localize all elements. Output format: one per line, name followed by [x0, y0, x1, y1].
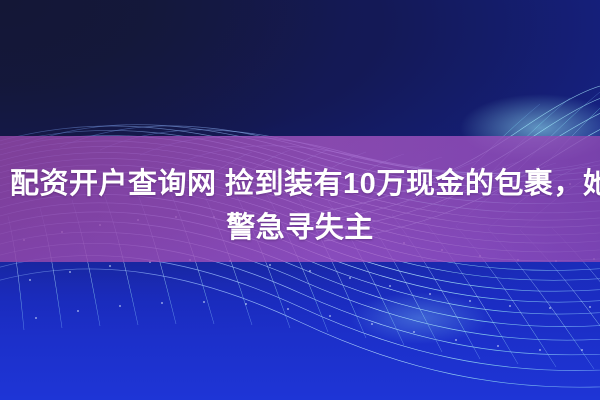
headline-text: 配资开户查询网 捡到装有10万现金的包裹，她报 警急寻失主 — [0, 162, 600, 250]
headline-line-1: 配资开户查询网 捡到装有10万现金的包裹，她报 — [10, 168, 600, 200]
banner-image: 配资开户查询网 捡到装有10万现金的包裹，她报 警急寻失主 — [0, 0, 600, 400]
headline-line-2: 警急寻失主 — [10, 206, 590, 250]
